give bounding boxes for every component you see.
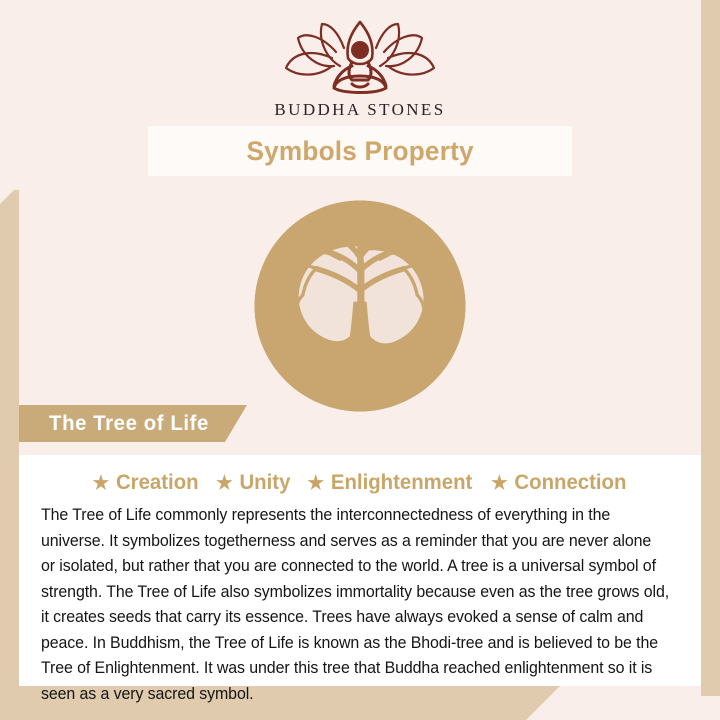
star-icon: ★ (308, 474, 325, 493)
keyword-label: Enlightenment (331, 471, 472, 495)
poster-root: BUDDHA STONES Symbols Property (0, 0, 720, 720)
page-title: Symbols Property (246, 136, 473, 167)
keyword-item-connection: ★ Connection (491, 471, 626, 495)
keyword-item-enlightenment: ★ Enlightenment (308, 471, 473, 495)
brand-name: BUDDHA STONES (0, 100, 720, 120)
brand-logo: BUDDHA STONES (0, 18, 720, 120)
content-panel: ★ Creation ★ Unity ★ Enlightenment ★ Con… (19, 455, 701, 686)
ribbon-label: The Tree of Life (22, 412, 209, 436)
keyword-item-unity: ★ Unity (216, 471, 290, 495)
description-text: The Tree of Life commonly represents the… (41, 503, 669, 707)
section-ribbon: The Tree of Life (19, 405, 247, 442)
lotus-meditation-figure-icon (272, 18, 448, 96)
keyword-list: ★ Creation ★ Unity ★ Enlightenment ★ Con… (41, 471, 679, 495)
star-icon: ★ (491, 474, 508, 493)
emblem-container (0, 196, 720, 421)
keyword-label: Creation (116, 471, 199, 495)
keyword-label: Connection (514, 471, 626, 495)
tree-of-life-icon (250, 196, 470, 416)
keyword-label: Unity (239, 471, 290, 495)
keyword-item-creation: ★ Creation (93, 471, 199, 495)
star-icon: ★ (216, 474, 233, 493)
title-banner: Symbols Property (148, 126, 572, 176)
star-icon: ★ (93, 474, 110, 493)
